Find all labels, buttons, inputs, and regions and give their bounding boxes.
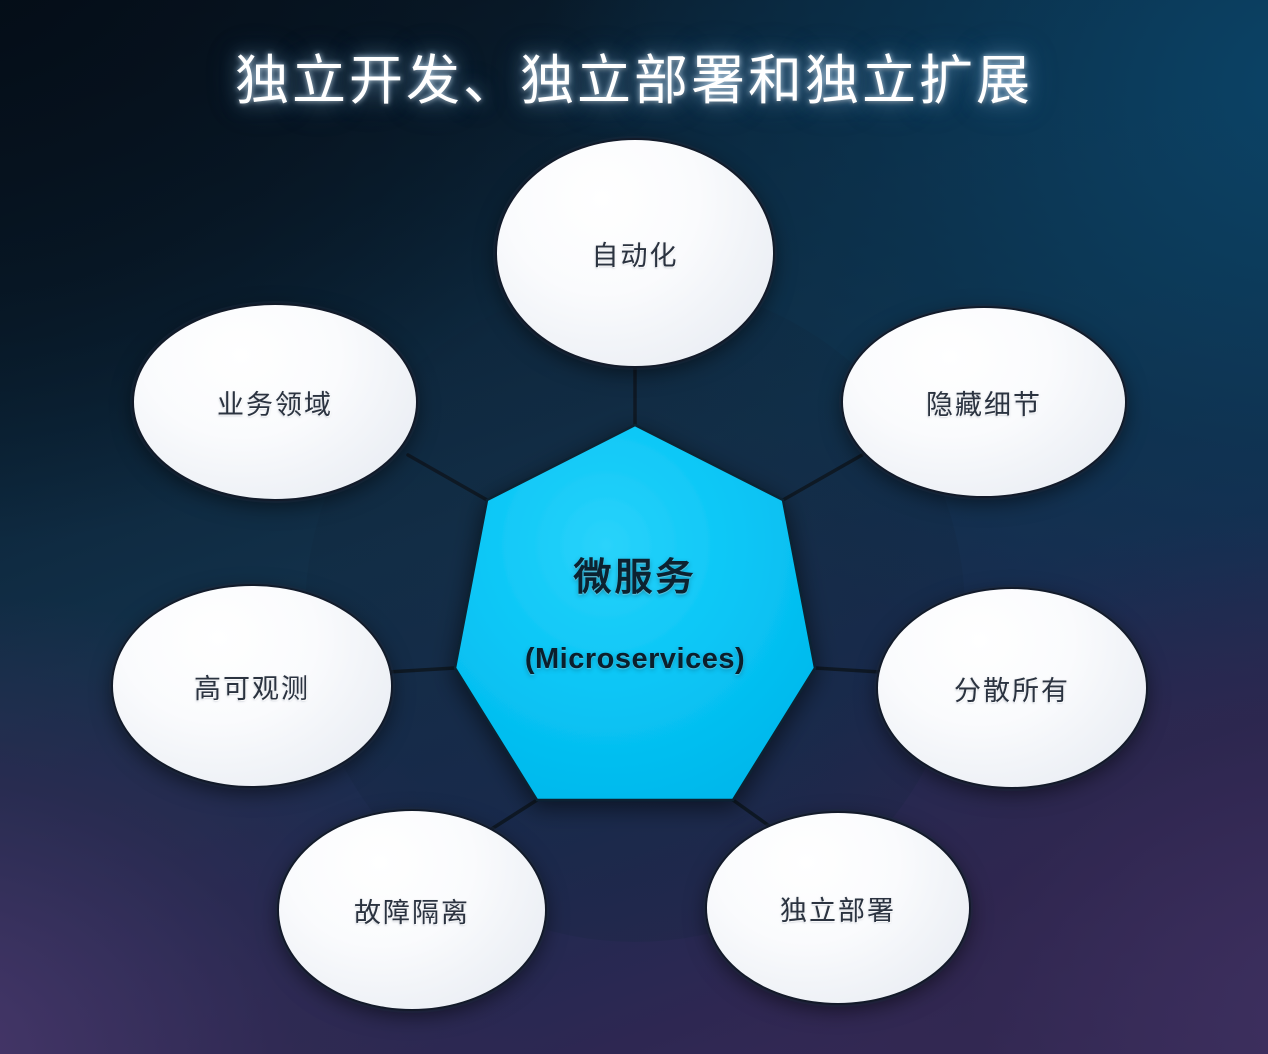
node-bubble-lower-right[interactable]: 分散所有 xyxy=(878,589,1146,787)
node-bubble-top[interactable]: 自动化 xyxy=(497,140,773,366)
node-bubble-lower-left[interactable]: 高可观测 xyxy=(113,586,391,786)
node-label: 故障隔离 xyxy=(354,891,470,930)
node-label: 独立部署 xyxy=(780,889,896,928)
slide-canvas: 独立开发、独立部署和独立扩展 xyxy=(0,0,1268,1054)
node-bubble-upper-right[interactable]: 隐藏细节 xyxy=(843,308,1125,496)
node-bubble-bottom-right[interactable]: 独立部署 xyxy=(707,813,969,1003)
node-label: 高可观测 xyxy=(194,667,310,706)
node-label: 自动化 xyxy=(592,234,679,273)
node-bubble-bottom-left[interactable]: 故障隔离 xyxy=(279,811,545,1009)
hub-title-en: (Microservices) xyxy=(525,643,745,676)
node-label: 隐藏细节 xyxy=(926,383,1042,422)
hub-title-cn: 微服务 xyxy=(525,546,745,601)
node-label: 业务领域 xyxy=(217,383,333,422)
node-bubble-upper-left[interactable]: 业务领域 xyxy=(134,305,416,499)
node-label: 分散所有 xyxy=(954,669,1070,708)
